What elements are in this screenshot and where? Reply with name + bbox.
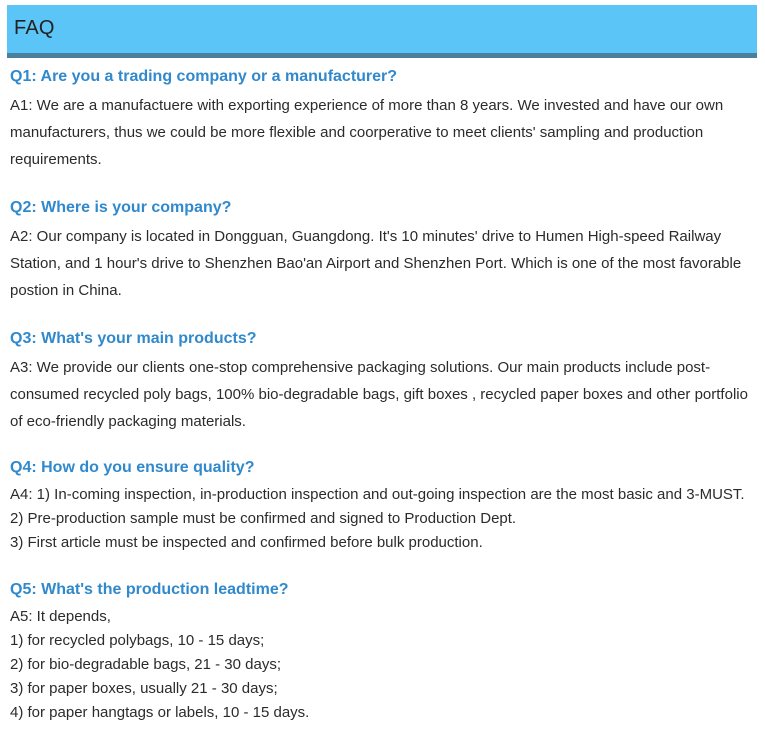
faq-page: FAQ Q1: Are you a trading company or a m… [0, 0, 765, 748]
faq-answer: A1: We are a manufactuere with exporting… [10, 92, 752, 173]
faq-answer: A3: We provide our clients one-stop comp… [10, 354, 752, 435]
faq-answer: A2: Our company is located in Dongguan, … [10, 223, 752, 304]
page-title: FAQ [14, 14, 55, 42]
faq-answer-line: A1: We are a manufactuere with exporting… [10, 92, 752, 173]
faq-item: Q3: What's your main products?A3: We pro… [10, 328, 752, 435]
faq-question: Q1: Are you a trading company or a manuf… [10, 66, 752, 88]
faq-answer-line: 1) for recycled polybags, 10 - 15 days; [10, 629, 752, 653]
faq-answer: A5: It depends,1) for recycled polybags,… [10, 605, 752, 725]
faq-answer-line: A4: 1) In-coming inspection, in-producti… [10, 483, 752, 507]
faq-answer-line: 3) First article must be inspected and c… [10, 531, 752, 555]
faq-item: Q1: Are you a trading company or a manuf… [10, 66, 752, 173]
faq-answer-line: 2) Pre-production sample must be confirm… [10, 507, 752, 531]
faq-answer-line: A2: Our company is located in Dongguan, … [10, 223, 752, 304]
faq-question: Q5: What's the production leadtime? [10, 579, 752, 601]
faq-answer-line: 4) for paper hangtags or labels, 10 - 15… [10, 701, 752, 725]
faq-item: Q2: Where is your company?A2: Our compan… [10, 197, 752, 304]
faq-item: Q5: What's the production leadtime?A5: I… [10, 579, 752, 725]
faq-question: Q2: Where is your company? [10, 197, 752, 219]
faq-question: Q4: How do you ensure quality? [10, 457, 752, 479]
faq-list: Q1: Are you a trading company or a manuf… [10, 66, 752, 725]
faq-header-banner: FAQ [7, 5, 757, 58]
faq-item: Q4: How do you ensure quality?A4: 1) In-… [10, 457, 752, 555]
faq-answer-line: 3) for paper boxes, usually 21 - 30 days… [10, 677, 752, 701]
faq-answer-line: 2) for bio-degradable bags, 21 - 30 days… [10, 653, 752, 677]
faq-answer: A4: 1) In-coming inspection, in-producti… [10, 483, 752, 555]
faq-question: Q3: What's your main products? [10, 328, 752, 350]
faq-answer-line: A5: It depends, [10, 605, 752, 629]
faq-answer-line: A3: We provide our clients one-stop comp… [10, 354, 752, 435]
